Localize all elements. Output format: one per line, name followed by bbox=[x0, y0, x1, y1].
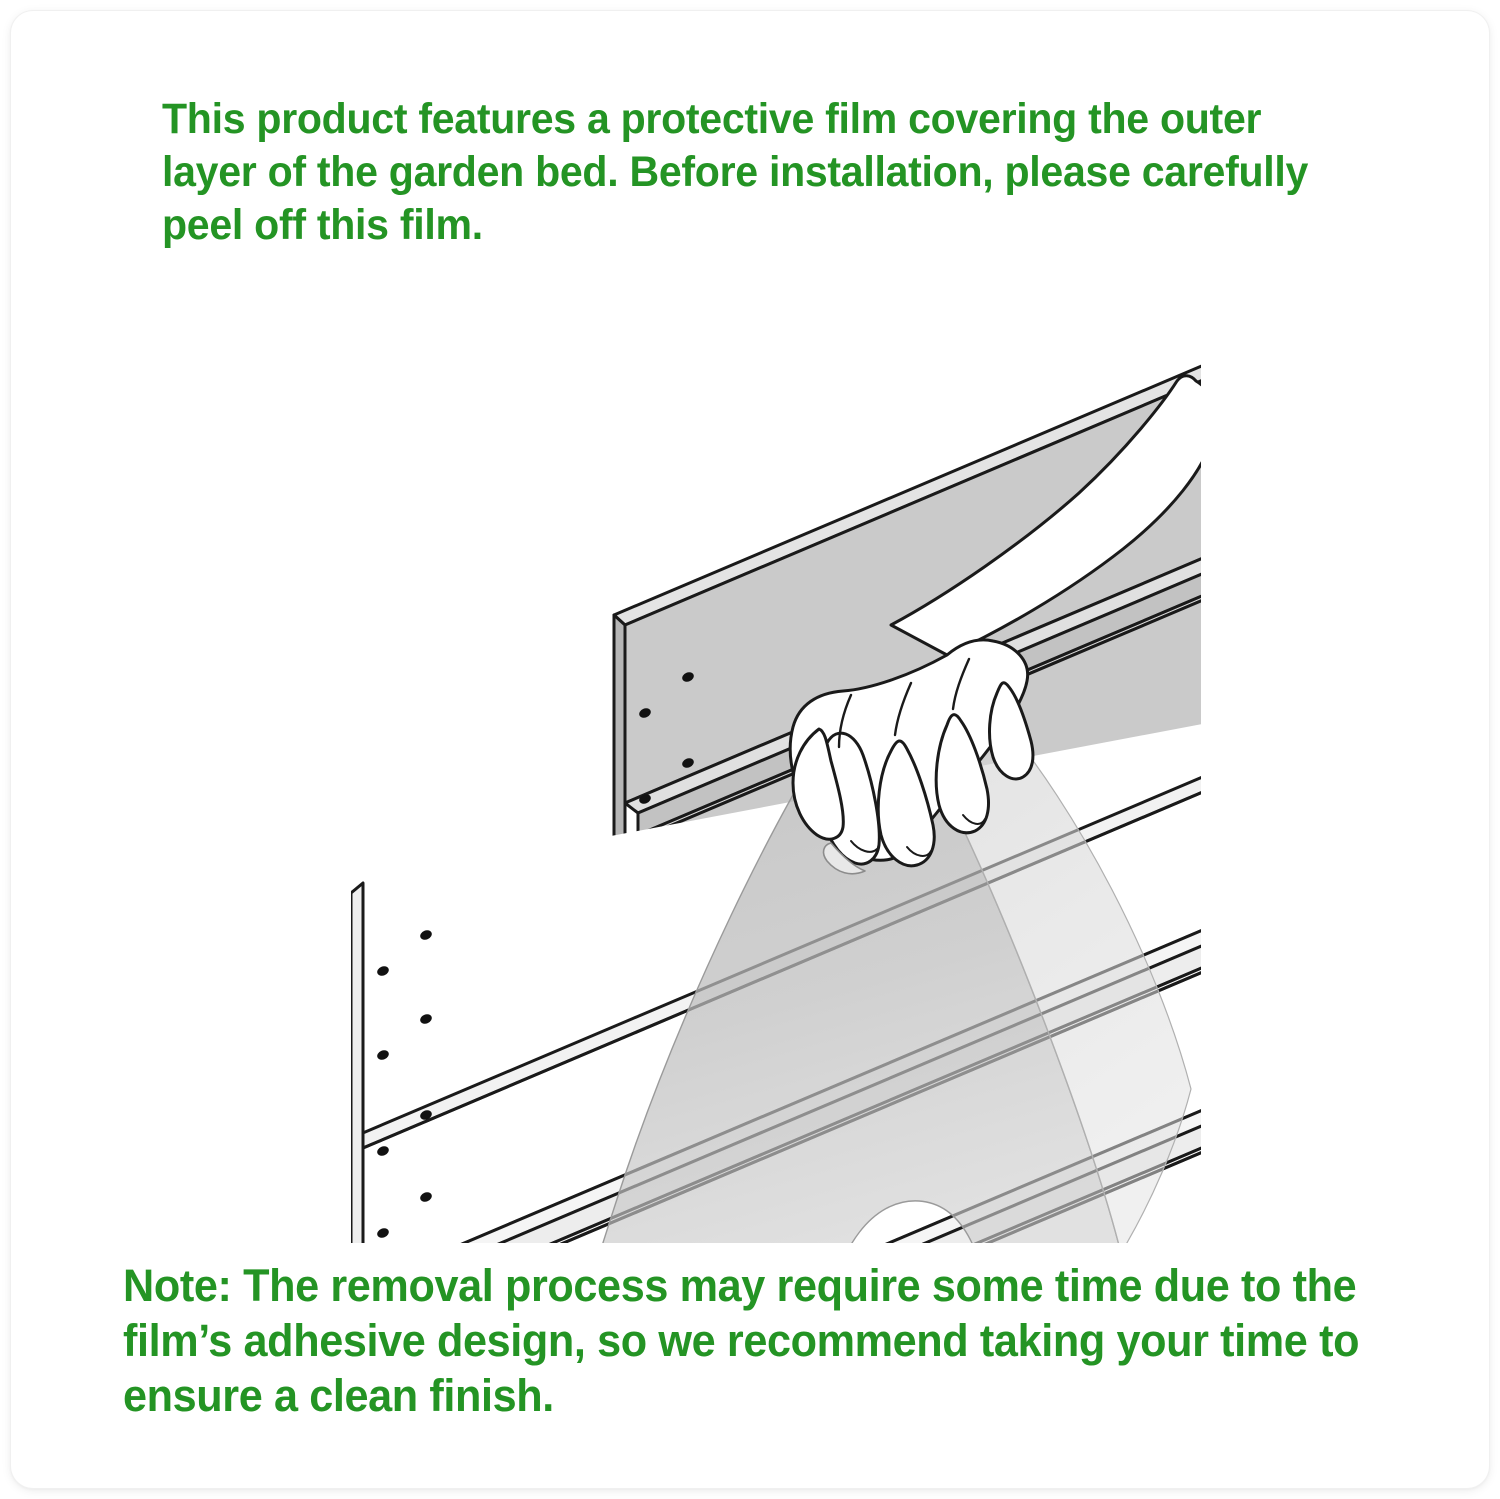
instruction-illustration bbox=[351, 243, 1201, 1243]
lower-panel-left-return bbox=[351, 883, 363, 1243]
screenshot-root: This product features a protective film … bbox=[0, 0, 1500, 1499]
removal-note: Note: The removal process may require so… bbox=[123, 1258, 1361, 1423]
instruction-card-inner: This product features a protective film … bbox=[11, 11, 1489, 1488]
page-title: This product features a protective film … bbox=[162, 93, 1322, 252]
garden-bed-film-peel-diagram bbox=[351, 243, 1201, 1243]
instruction-card: This product features a protective film … bbox=[11, 11, 1489, 1488]
